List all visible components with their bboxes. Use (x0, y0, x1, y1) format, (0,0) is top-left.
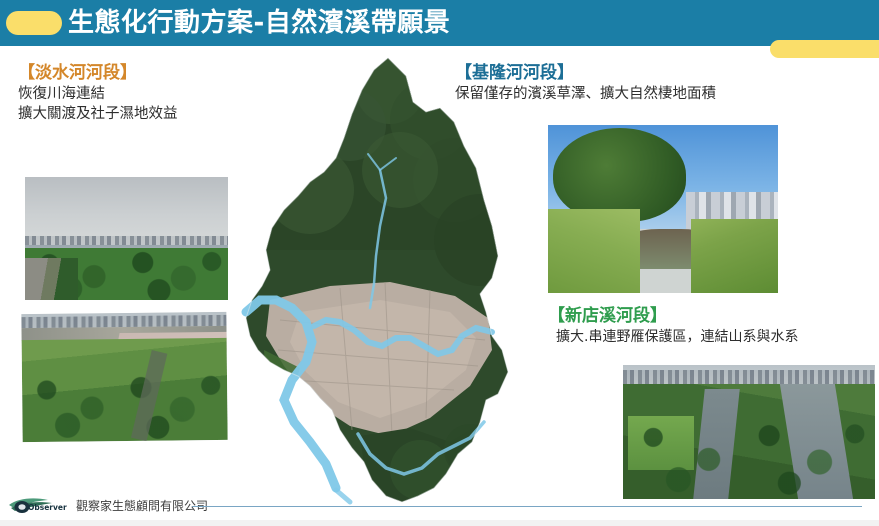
photo-tamsui-river (25, 177, 228, 300)
footer-company-name: 觀察家生態顧問有限公司 (76, 497, 208, 515)
section-tamsui-title: 【淡水河河段】 (18, 62, 178, 84)
header-accent-decoration (770, 40, 879, 58)
svg-text:Observer: Observer (28, 503, 67, 512)
footer: Observer 觀察家生態顧問有限公司 (0, 492, 879, 526)
map-taipei-satellite (240, 50, 525, 512)
photo-treeline (22, 366, 228, 442)
page-title: 生態化行動方案-自然濱溪帶願景 (68, 6, 450, 40)
photo-path (25, 258, 78, 300)
section-xindian-title: 【新店溪河段】 (548, 305, 798, 327)
section-xindian: 【新店溪河段】 擴大.串連野雁保護區，連結山系與水系 (548, 305, 798, 347)
photo-reeds-left (548, 209, 640, 293)
section-tamsui-line2: 擴大關渡及社子濕地效益 (18, 104, 178, 124)
slide-root: 生態化行動方案-自然濱溪帶願景 【淡水河河段】 恢復川海連結 擴大關渡及社子濕地… (0, 0, 879, 526)
footer-divider (192, 506, 862, 507)
section-tamsui-line1: 恢復川海連結 (18, 84, 178, 104)
photo-reeds-right (691, 219, 778, 293)
photo-keelung-creek (548, 125, 778, 293)
footer-edge-strip (0, 520, 879, 526)
map-terrain (240, 50, 525, 512)
photo-xindian-aerial (623, 365, 875, 499)
photo-guandu-wetland (21, 312, 227, 442)
photo-tree-canopy (623, 411, 875, 499)
section-xindian-line1: 擴大.串連野雁保護區，連結山系與水系 (548, 327, 798, 347)
section-tamsui: 【淡水河河段】 恢復川海連結 擴大關渡及社子濕地效益 (18, 62, 178, 124)
observer-logo-icon: Observer (8, 496, 70, 516)
header-pill-decoration (6, 11, 62, 35)
